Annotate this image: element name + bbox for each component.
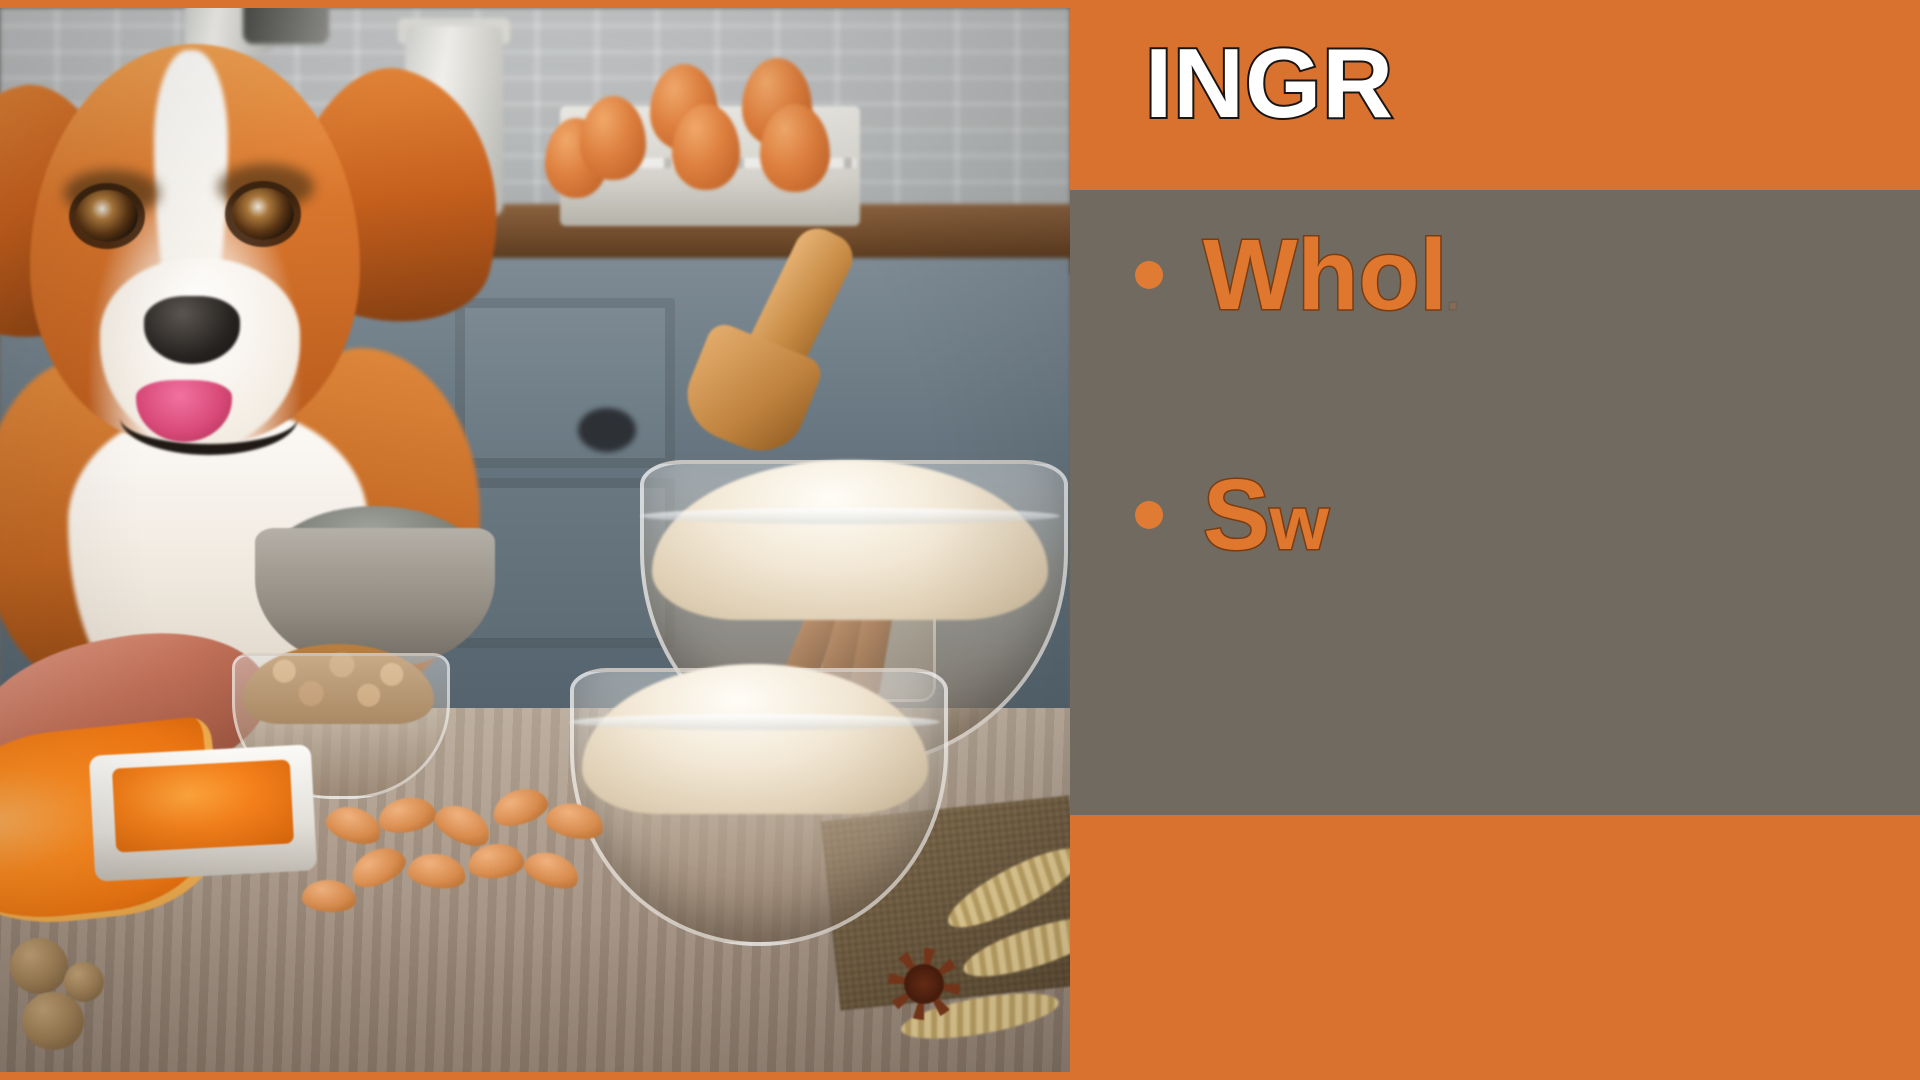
nutmeg-icon <box>10 938 68 994</box>
bullet-lead-text: Whol <box>1203 219 1447 331</box>
bullet-list-panel: Whol. Sw <box>1070 190 1920 815</box>
bowl-rim-icon <box>570 714 940 730</box>
pumpkin-puree-icon <box>112 759 294 852</box>
cabinet-knob-icon <box>578 408 636 452</box>
list-item: Whol. <box>1135 225 1458 325</box>
bullet-trailing-text: . <box>1447 274 1458 318</box>
bullet-text: Sw <box>1203 465 1329 565</box>
bullet-text: Whol. <box>1203 225 1458 325</box>
bullet-dot-icon <box>1135 501 1163 529</box>
dog-eye-right-icon <box>232 188 294 240</box>
slide-content-area: INGR Whol. Sw <box>1070 0 1920 1080</box>
bullet-dot-icon <box>1135 261 1163 289</box>
nutmeg-icon <box>22 992 84 1050</box>
photo-stage <box>0 8 1070 1072</box>
dog-eye-left-icon <box>76 190 138 242</box>
title-band: INGR <box>1070 0 1920 190</box>
bowl-rim-icon <box>640 508 1060 524</box>
bullet-lead-text: S <box>1203 459 1270 571</box>
ingredients-photo <box>0 8 1070 1072</box>
nutmeg-icon <box>64 962 104 1002</box>
presentation-slide: INGR Whol. Sw <box>0 0 1920 1080</box>
list-item: Sw <box>1135 465 1329 565</box>
star-anise-icon <box>888 948 960 1020</box>
page-title: INGR <box>1145 32 1394 135</box>
bullet-rest-text: w <box>1270 481 1329 566</box>
